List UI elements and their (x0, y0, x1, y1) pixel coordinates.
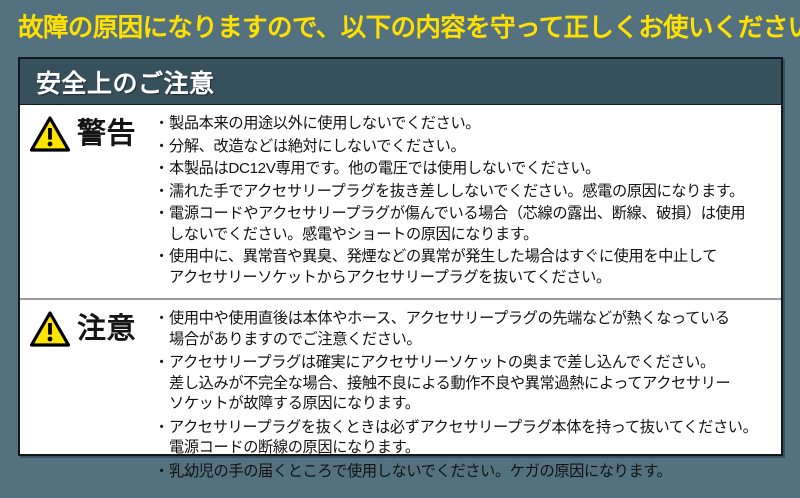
list-item: 使用中や使用直後は本体やホース、アクセサリープラグの先端などが熱くなっている 場… (156, 309, 771, 350)
bullet-line: 製品本来の用途以外に使用しないでください。 (169, 114, 771, 135)
bullet-line: 濡れた手でアクセサリープラグを抜き差ししないでください。感電の原因になります。 (169, 182, 771, 203)
bullet-line: 場合がありますのでご注意ください。 (169, 330, 771, 351)
panel-title-bar: 安全上のご注意 (20, 59, 781, 105)
severity-label-caution: 注意 (77, 315, 136, 344)
bullet-line: 電源コードの断線の原因になります。 (169, 438, 771, 459)
safety-notice-page: 故障の原因になりますので、以下の内容を守って正しくお使いください。 安全上のご注… (0, 0, 800, 498)
warning-bullet-list: 製品本来の用途以外に使用しないでください。 分解、改造などは絶対にしないでくださ… (156, 114, 771, 290)
panel-title: 安全上のご注意 (36, 64, 215, 100)
panel-body: 警告 製品本来の用途以外に使用しないでください。 分解、改造などは絶対にしないで… (20, 105, 781, 453)
list-item: 乳幼児の手の届くところで使用しないでください。ケガの原因になります。 (156, 462, 771, 483)
bullet-line: アクセサリープラグは確実にアクセサリーソケットの奥まで差し込んでください。 (169, 353, 771, 374)
severity-label-warning: 警告 (77, 120, 136, 149)
list-item: アクセサリープラグを抜くときは必ずアクセサリープラグ本体を持って抜いてください。… (156, 418, 771, 459)
list-item: 濡れた手でアクセサリープラグを抜き差ししないでください。感電の原因になります。 (156, 182, 771, 203)
list-item: 電源コードやアクセサリープラグが傷んでいる場合（芯線の露出、断線、破損）は使用 … (156, 204, 771, 245)
safety-panel: 安全上のご注意 警告 製品本来の用途以外に使用しないでください。 (18, 57, 783, 456)
bullet-line: 差し込みが不完全な場合、接触不良による動作不良や異常過熱によってアクセサリー (169, 374, 771, 395)
bullet-line: アクセサリーソケットからアクセサリープラグを抜いてください。 (169, 268, 771, 289)
bullet-line: 使用中や使用直後は本体やホース、アクセサリープラグの先端などが熱くなっている (169, 309, 771, 330)
bullet-line: 乳幼児の手の届くところで使用しないでください。ケガの原因になります。 (169, 462, 771, 483)
bullet-line: しないでください。感電やショートの原因になります。 (169, 225, 771, 246)
bullet-line: 電源コードやアクセサリープラグが傷んでいる場合（芯線の露出、断線、破損）は使用 (169, 204, 771, 225)
bullet-line: ソケットが故障する原因になります。 (169, 394, 771, 415)
severity-warning: 警告 (30, 114, 156, 152)
warning-triangle-icon (30, 116, 70, 152)
section-warning: 警告 製品本来の用途以外に使用しないでください。 分解、改造などは絶対にしないで… (20, 105, 781, 298)
severity-caution: 注意 (30, 309, 156, 347)
list-item: アクセサリープラグは確実にアクセサリーソケットの奥まで差し込んでください。 差し… (156, 353, 771, 415)
bullet-line: 使用中に、異常音や異臭、発煙などの異常が発生した場合はすぐに使用を中止して (169, 247, 771, 268)
bullet-line: アクセサリープラグを抜くときは必ずアクセサリープラグ本体を持って抜いてください。 (169, 418, 771, 439)
list-item: 分解、改造などは絶対にしないでください。 (156, 137, 771, 158)
caution-bullet-list: 使用中や使用直後は本体やホース、アクセサリープラグの先端などが熱くなっている 場… (156, 309, 771, 485)
bullet-line: 分解、改造などは絶対にしないでください。 (169, 137, 771, 158)
headline-text: 故障の原因になりますので、以下の内容を守って正しくお使いください。 (18, 14, 788, 42)
section-caution: 注意 使用中や使用直後は本体やホース、アクセサリープラグの先端などが熱くなってい… (20, 298, 781, 493)
bullet-line: 本製品はDC12V専用です。他の電圧では使用しないでください。 (169, 159, 771, 180)
list-item: 製品本来の用途以外に使用しないでください。 (156, 114, 771, 135)
list-item: 本製品はDC12V専用です。他の電圧では使用しないでください。 (156, 159, 771, 180)
warning-triangle-icon (30, 311, 70, 347)
list-item: 使用中に、異常音や異臭、発煙などの異常が発生した場合はすぐに使用を中止して アク… (156, 247, 771, 288)
